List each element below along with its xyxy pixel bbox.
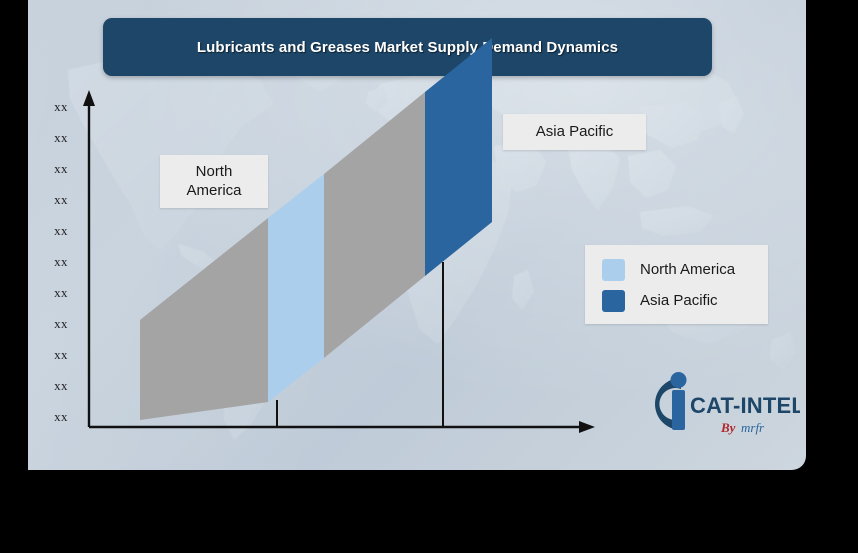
y-axis-tick-label: xx [44,378,78,394]
band-segment-gray-left [140,218,268,420]
y-axis-tick-label: xx [44,223,78,239]
x-axis-arrow [579,421,595,433]
logo-i-stem [672,390,685,430]
callout-asia-pacific: Asia Pacific [503,114,646,150]
y-axis-tick-label: xx [44,316,78,332]
y-axis-tick-label: xx [44,99,78,115]
band-group [140,38,492,420]
band-segment-asia-pacific [425,38,492,276]
callout-asia-pacific-line1: Asia Pacific [536,123,614,141]
logo-tagline-by: By [720,420,736,435]
logo-wordmark: CAT-INTEL [690,393,800,418]
legend-item-asia-pacific: Asia Pacific [602,285,768,316]
logo-tagline-name: mrfr [741,420,765,435]
chart-legend: North America Asia Pacific [585,245,768,324]
legend-label-asia-pacific: Asia Pacific [640,292,718,309]
y-axis-tick-label: xx [44,130,78,146]
band-segment-north-america [268,174,324,402]
legend-label-north-america: North America [640,261,735,278]
callout-north-america-line2: America [186,182,241,200]
y-axis-tick-label: xx [44,254,78,270]
band-segment-gray-right [324,92,425,358]
y-axis-tick-label: xx [44,161,78,177]
callout-north-america-line1: North [186,163,241,181]
legend-swatch-north-america [602,259,625,281]
y-axis-tick-label: xx [44,285,78,301]
legend-swatch-asia-pacific [602,290,625,312]
y-axis-arrow [83,90,95,106]
callout-north-america: North America [160,155,268,208]
cat-intel-logo: CAT-INTEL By mrfr [640,368,800,440]
slide-panel: Lubricants and Greases Market Supply Dem… [28,0,806,470]
y-axis-tick-label: xx [44,409,78,425]
screenshot-canvas: Lubricants and Greases Market Supply Dem… [0,0,858,553]
y-axis-tick-label: xx [44,347,78,363]
legend-item-north-america: North America [602,254,768,285]
logo-i-dot [671,372,687,388]
y-axis-tick-label: xx [44,192,78,208]
